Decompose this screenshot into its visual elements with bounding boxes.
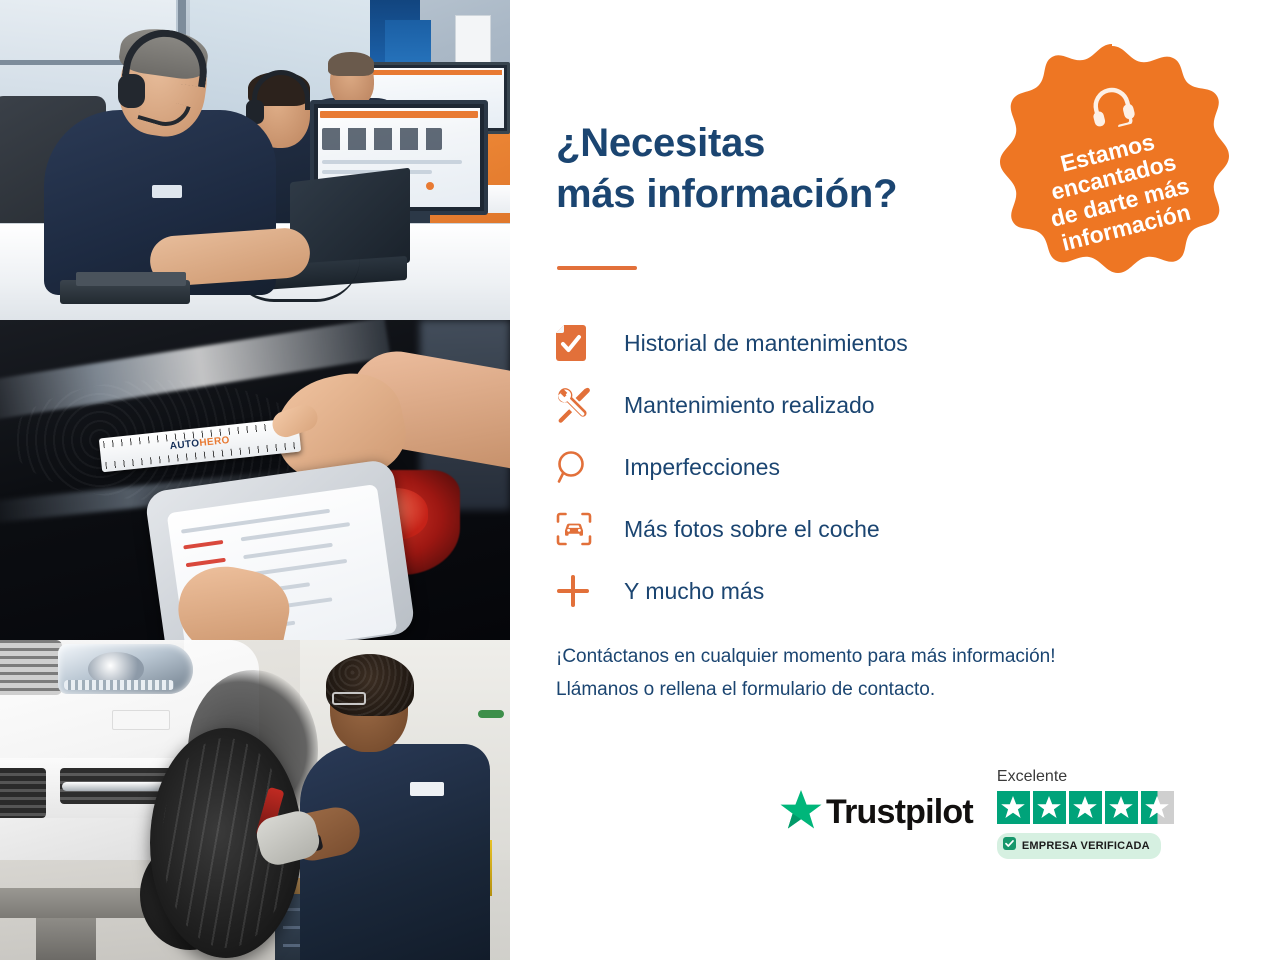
call-center-agents-photo	[0, 0, 510, 320]
page-title-line-2: más información?	[556, 169, 976, 220]
mechanic-wheel-photo	[0, 640, 510, 960]
feature-label: Más fotos sobre el coche	[624, 516, 880, 543]
trustpilot-wordmark: Trustpilot	[826, 793, 973, 832]
mechanic-hair-texture	[326, 654, 414, 716]
star-half	[1141, 791, 1174, 824]
headlight-drl	[64, 680, 174, 690]
verified-label: EMPRESA VERIFICADA	[1022, 840, 1150, 852]
car-lift-post	[36, 918, 96, 960]
feature-list: Historial de mantenimientos	[556, 312, 1076, 622]
verified-company-badge: EMPRESA VERIFICADA	[997, 833, 1161, 859]
car-inspection-ruler-photo: AUTOHERO	[0, 320, 510, 640]
car-frame-icon	[556, 512, 600, 546]
star-filled	[1069, 791, 1102, 824]
feature-item-mantenimiento: Mantenimiento realizado	[556, 374, 1076, 436]
monitor-row	[322, 160, 462, 164]
monitor-car-thumbnails	[322, 128, 442, 150]
monitor-header-bar	[320, 111, 478, 118]
tools-cross-icon	[556, 387, 600, 423]
trustpilot-star-icon	[780, 790, 822, 835]
document-check-icon	[556, 325, 600, 361]
tablet-line-red	[183, 540, 223, 550]
monitor-dot	[426, 182, 434, 190]
trustpilot-rating-label: Excelente	[997, 768, 1174, 786]
photo-column: AUTOHERO	[0, 0, 510, 960]
feature-item-historial: Historial de mantenimientos	[556, 312, 1076, 374]
agent-a-logo-badge	[152, 185, 182, 198]
verified-check-icon	[1003, 837, 1016, 855]
page-title-line-1: ¿Necesitas	[556, 121, 765, 165]
promo-page: AUTOHERO	[0, 0, 1280, 960]
star-filled	[1033, 791, 1066, 824]
autohero-logo-auto: AUTO	[169, 438, 200, 452]
desk-notebook	[76, 272, 186, 286]
content-panel: ¿Necesitas más información? Historial de…	[510, 0, 1280, 960]
contact-line-1: ¡Contáctanos en cualquier momento para m…	[556, 640, 1236, 673]
feature-label: Mantenimiento realizado	[624, 392, 875, 419]
contact-paragraph: ¡Contáctanos en cualquier momento para m…	[556, 640, 1236, 707]
page-title: ¿Necesitas más información?	[556, 118, 976, 220]
feature-item-imperfecciones: Imperfecciones	[556, 436, 1076, 498]
license-plate-blank	[112, 710, 170, 730]
trustpilot-rating: Excelente	[997, 768, 1174, 859]
mechanic-autohero-badge	[410, 782, 444, 796]
autohero-logo-hero: HERO	[199, 435, 230, 449]
trustpilot-logo[interactable]: Trustpilot	[780, 790, 973, 835]
tablet-line	[243, 543, 333, 559]
green-hose	[478, 710, 504, 718]
mechanic-glasses	[332, 692, 366, 705]
bumper-vent-side	[0, 768, 46, 818]
star-filled	[1105, 791, 1138, 824]
car-grille	[0, 640, 62, 695]
contact-line-2: Llámanos o rellena el formulario de cont…	[556, 673, 1236, 706]
trustpilot-block: Trustpilot Excelente	[780, 768, 1174, 859]
tablet-line	[241, 522, 350, 541]
trustpilot-stars	[997, 791, 1174, 824]
magnifier-icon	[556, 450, 600, 484]
agent-c-hair	[328, 52, 374, 76]
title-divider	[557, 266, 637, 270]
feature-label: Imperfecciones	[624, 454, 780, 481]
feature-label: Historial de mantenimientos	[624, 330, 908, 357]
feature-label: Y mucho más	[624, 578, 764, 605]
feature-item-mucho-mas: Y mucho más	[556, 560, 1076, 622]
star-filled	[997, 791, 1030, 824]
feature-item-fotos: Más fotos sobre el coche	[556, 498, 1076, 560]
starburst-badge: Estamos encantados de darte más informac…	[983, 42, 1241, 300]
plus-icon	[556, 574, 600, 608]
